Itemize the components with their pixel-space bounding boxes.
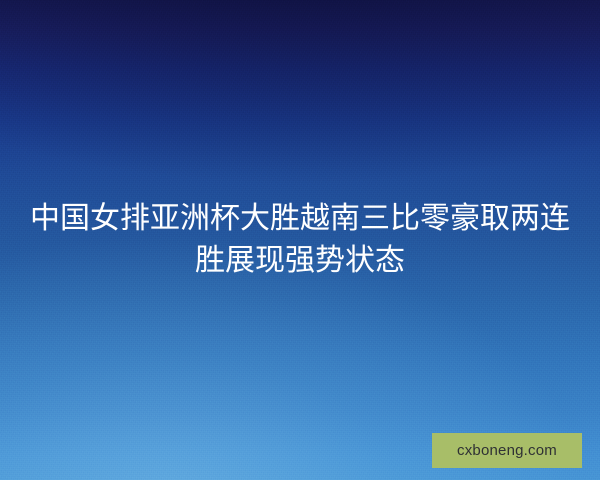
headline-title: 中国女排亚洲杯大胜越南三比零豪取两连 胜展现强势状态	[0, 198, 600, 282]
headline-line-2: 胜展现强势状态	[0, 240, 600, 282]
watermark-label: cxboneng.com	[457, 443, 557, 458]
watermark-badge: cxboneng.com	[432, 433, 582, 468]
news-banner-image: 中国女排亚洲杯大胜越南三比零豪取两连 胜展现强势状态 cxboneng.com	[0, 0, 600, 480]
headline-line-1: 中国女排亚洲杯大胜越南三比零豪取两连	[0, 198, 600, 240]
